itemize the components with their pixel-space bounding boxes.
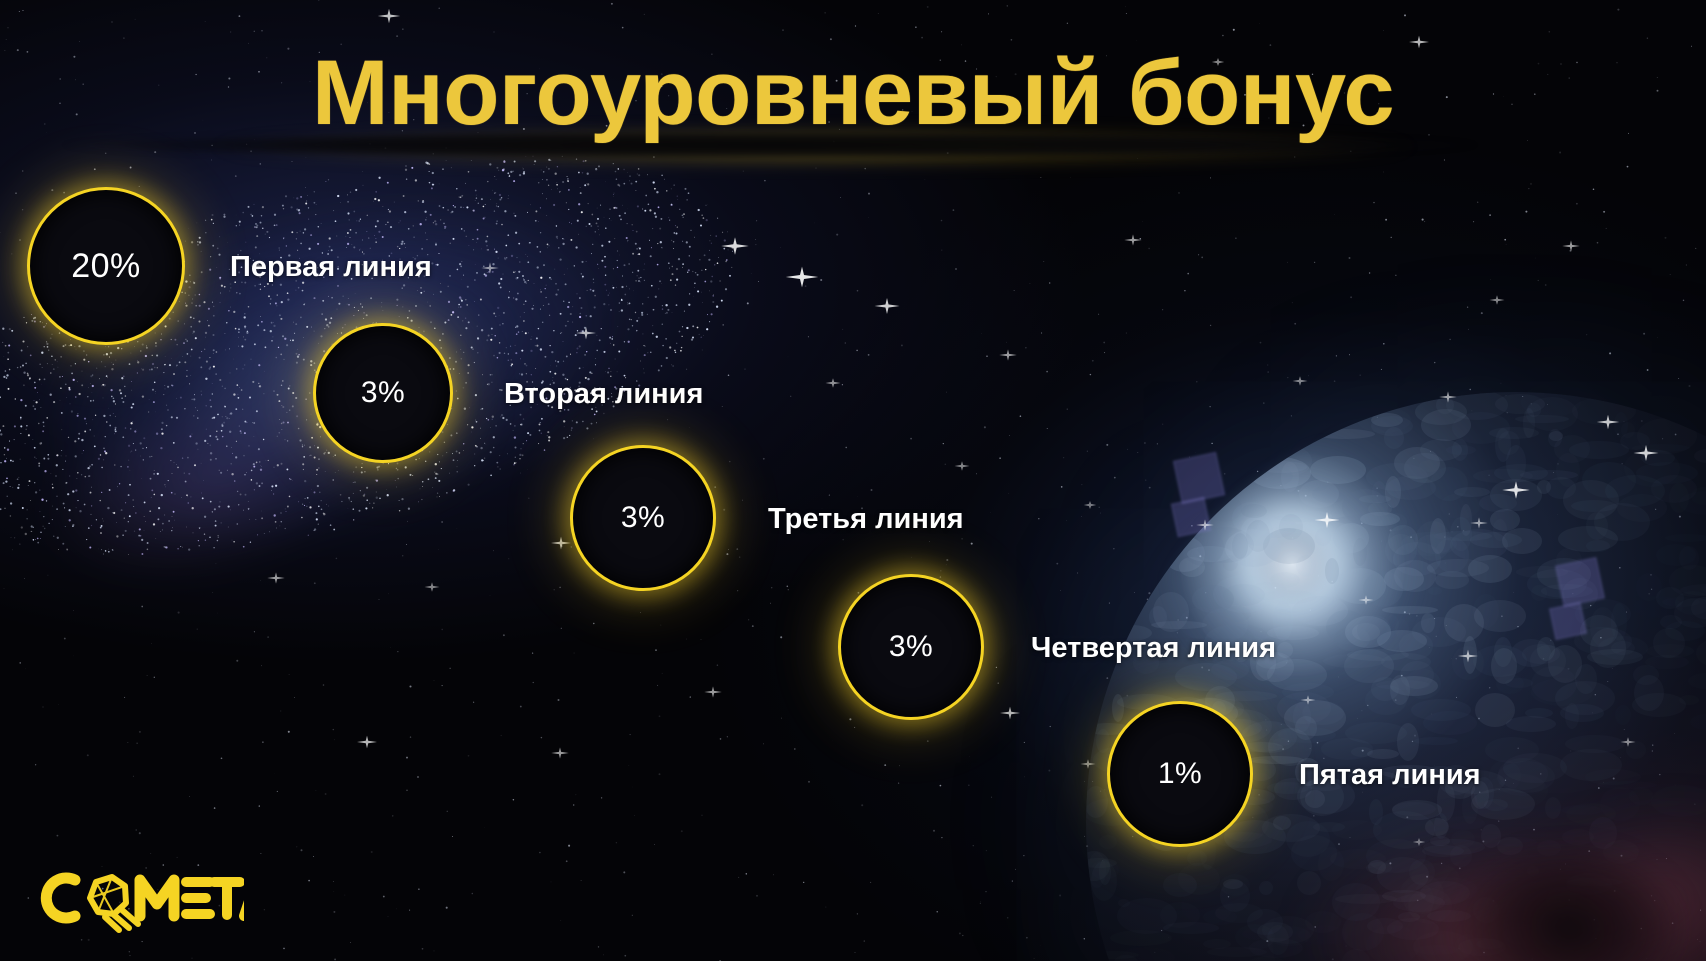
cometa-logo[interactable]: COMETA xyxy=(34,862,244,934)
tier-label-4: Четвертая линия xyxy=(1031,634,1276,663)
comet-icon xyxy=(90,877,138,930)
tier-bubble-5[interactable]: 1% xyxy=(1107,701,1253,847)
satellite-panel-2 xyxy=(1171,497,1211,537)
tier-label-1: Первая линия xyxy=(230,253,432,282)
tier-label-2: Вторая линия xyxy=(504,380,703,409)
logo-letter-e xyxy=(186,882,210,914)
satellite-panel-4 xyxy=(1549,602,1587,640)
tier-label-3: Третья линия xyxy=(768,505,964,534)
tier-bubble-1[interactable]: 20% xyxy=(27,187,185,345)
page-title: Многоуровневый бонус xyxy=(0,34,1706,152)
tier-bubble-4[interactable]: 3% xyxy=(838,574,984,720)
satellite-panel-1 xyxy=(1173,452,1225,504)
satellite-panel-3 xyxy=(1555,557,1605,607)
title-block: Многоуровневый бонус xyxy=(0,34,1706,162)
slide-canvas: Многоуровневый бонус 20%Первая линия3%Вт… xyxy=(0,0,1706,961)
tier-value-3: 3% xyxy=(621,503,665,533)
logo-letter-m xyxy=(140,880,174,916)
tier-label-5: Пятая линия xyxy=(1299,761,1481,790)
tier-value-4: 3% xyxy=(889,632,933,662)
logo-letter-c xyxy=(46,878,75,918)
tier-bubble-3[interactable]: 3% xyxy=(570,445,716,591)
logo-letter-t xyxy=(214,882,240,915)
tier-value-5: 1% xyxy=(1158,759,1202,789)
tier-bubble-2[interactable]: 3% xyxy=(313,323,453,463)
tier-value-1: 20% xyxy=(71,249,141,283)
tier-value-2: 3% xyxy=(361,378,405,408)
